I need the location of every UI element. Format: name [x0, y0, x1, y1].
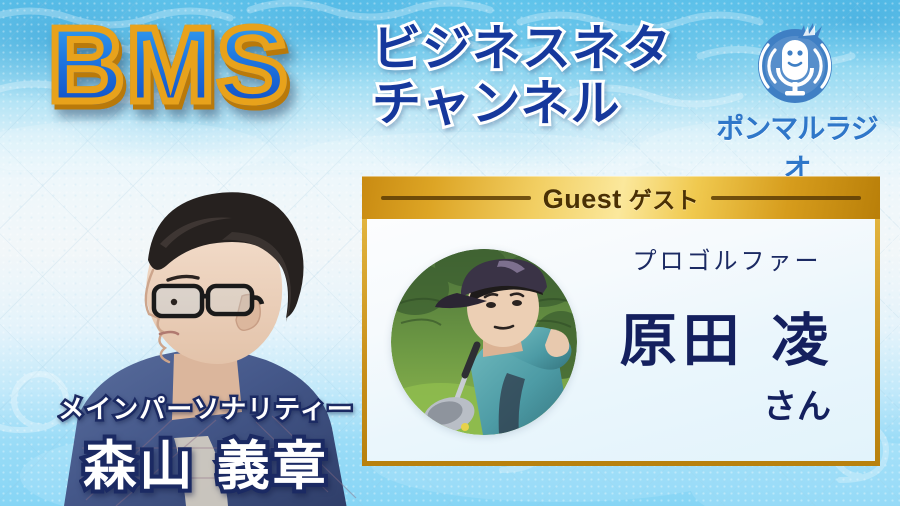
radio-logo: ポンマルラジオ — [712, 20, 882, 142]
guest-panel: Guestゲスト — [362, 176, 880, 466]
guest-role-label: プロゴルファー — [585, 241, 869, 276]
guest-name: 原田 凌 — [585, 312, 869, 369]
header-rule-left — [381, 196, 531, 200]
host-name: 森山 義章 — [16, 424, 396, 500]
host-block: メインパーソナリティー 森山 義章 — [56, 148, 376, 506]
channel-title: ビジネスネタ チャンネル — [372, 22, 672, 132]
thumbnail-canvas: BMS BMS ビジネスネタ チャンネル — [0, 0, 900, 506]
bms-logo-text: BMS — [48, 12, 290, 118]
host-role-label: メインパーソナリティー — [16, 389, 396, 426]
guest-photo — [391, 249, 577, 435]
guest-panel-body: プロゴルファー 原田 凌 さん — [362, 219, 880, 466]
radio-logo-name: ポンマルラジオ — [712, 107, 882, 187]
guest-header-en: Guest — [543, 184, 622, 214]
microphone-face-icon — [751, 20, 843, 106]
header-rule-right — [711, 196, 861, 200]
guest-panel-header: Guestゲスト — [362, 176, 880, 219]
host-caption: メインパーソナリティー 森山 義章 — [16, 389, 396, 500]
channel-title-line2: チャンネル — [372, 77, 672, 132]
guest-header-jp: ゲスト — [629, 188, 700, 214]
guest-header-text: Guestゲスト — [543, 181, 700, 215]
guest-caption: プロゴルファー 原田 凌 さん — [585, 241, 869, 428]
channel-title-line1: ビジネスネタ — [372, 22, 672, 77]
guest-photo-image — [391, 249, 577, 435]
guest-name-suffix: さん — [585, 379, 869, 428]
